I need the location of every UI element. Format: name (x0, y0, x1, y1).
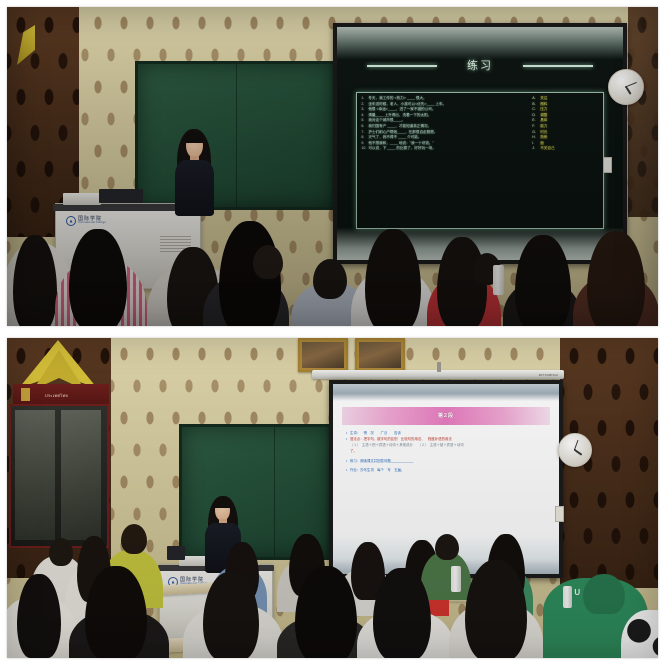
student-hair (373, 568, 431, 658)
roller-bracket (437, 362, 441, 372)
clock-hand-hour (575, 450, 582, 456)
wall-switch-bottom (555, 506, 564, 522)
projection-screen-frame-top: 练习 1.冬天，我工作的 <热力> ____ 很大。 2.坐车送时候，老人、小孩… (333, 23, 627, 264)
pavilion-seal-icon (21, 388, 30, 401)
laptop-lid-bottom (167, 546, 185, 560)
student-hair (465, 560, 527, 658)
student-hair (85, 566, 147, 658)
clock-hub (574, 449, 576, 451)
clock-hub (625, 86, 627, 88)
water-bottle-top (493, 265, 504, 295)
option-label: 不关自己 (540, 146, 554, 152)
student-hair (17, 574, 61, 658)
wall-switch-top (603, 157, 612, 173)
bullet-text: 作业：抄写生词 每个 写 五遍。 (350, 467, 404, 473)
podium-logo-top: 国际学院 International College (66, 216, 106, 226)
chalkboard-top (135, 61, 337, 210)
presenter-top (167, 127, 221, 219)
cabinet-glass (15, 410, 55, 540)
student-head (49, 538, 73, 566)
clock-hand-hour (626, 87, 632, 95)
student-head (435, 534, 459, 560)
presenter-fringe (213, 498, 232, 508)
projection-screen-top: 练习 1.冬天，我工作的 <热力> ____ 很大。 2.坐车送时候，老人、小孩… (337, 27, 623, 260)
slide-bottom: 第2段 •生词： 情 况 广泛 告诉 •语法点：把字句、被字句的区别 比较句的用… (342, 407, 550, 555)
water-bottle-bottom (451, 566, 461, 592)
bullet-text: （１） 主语＋把＋宾语＋动词＋其他成分 （２） 主语＋被＋宾语＋动词 (350, 442, 464, 448)
exercise-number: 10. (361, 146, 368, 152)
student-head (313, 259, 347, 299)
wall-clock-top (608, 69, 644, 105)
student-head (121, 524, 147, 554)
framed-picture (355, 338, 405, 372)
exercise-text: 可以说，下 ____ 的比赛了，好好玩一场。 (368, 146, 532, 152)
presenter-torso (175, 160, 214, 216)
college-emblem-icon (66, 216, 76, 226)
student-head (253, 245, 283, 279)
laptop-base-top (63, 193, 101, 205)
exercise-options: A.关注 B.照料 C.压力 D.调整 E.具体 F.能力 G.时光 H.熟悉 … (532, 96, 598, 224)
photo-collage: 练习 1.冬天，我工作的 <热力> ____ 很大。 2.坐车送时候，老人、小孩… (0, 0, 665, 665)
bullet-text: 练习：朗读课文并回答问题____________ (350, 458, 413, 464)
water-bottle-bottom (563, 586, 572, 608)
photo-panel-top: 练习 1.冬天，我工作的 <热力> ____ 很大。 2.坐车送时候，老人、小孩… (7, 7, 658, 326)
slide-title-top: 练习 (346, 57, 615, 73)
hoodie-hood (583, 574, 625, 614)
bullet-text: 了。 (350, 448, 357, 454)
slide-banner: 第2段 (342, 407, 550, 425)
option-key: J. (532, 146, 540, 152)
slide-title-bottom: 第2段 (438, 412, 454, 419)
display-cabinet (9, 404, 109, 548)
slide-top: 练习 1.冬天，我工作的 <热力> ____ 很大。 2.坐车送时候，老人、小孩… (346, 57, 615, 232)
presenter-fringe (184, 132, 205, 143)
wallpaper-dark-right (628, 7, 658, 217)
framed-picture (298, 338, 348, 372)
pavilion-label: ประเทศไทย (45, 392, 68, 399)
wall-clock-bottom (558, 433, 592, 467)
slide-bullets: •生词： 情 况 广泛 告诉 •语法点：把字句、被字句的区别 比较句的用法、 程… (342, 425, 550, 474)
exercise-box: 1.冬天，我工作的 <热力> ____ 很大。 2.坐车送时候，老人、小孩可以<… (356, 92, 603, 228)
cabinet-glass (61, 410, 101, 540)
podium-english-name: International College (78, 222, 106, 225)
exercise-items: 1.冬天，我工作的 <热力> ____ 很大。 2.坐车送时候，老人、小孩可以<… (361, 96, 532, 224)
student-hair (203, 572, 259, 658)
roller-brand-mark: MITSUBISHI (539, 373, 558, 377)
laptop-lid-top (99, 189, 143, 203)
photo-panel-bottom: ประเทศไทย MITSUBISHI (7, 338, 658, 658)
